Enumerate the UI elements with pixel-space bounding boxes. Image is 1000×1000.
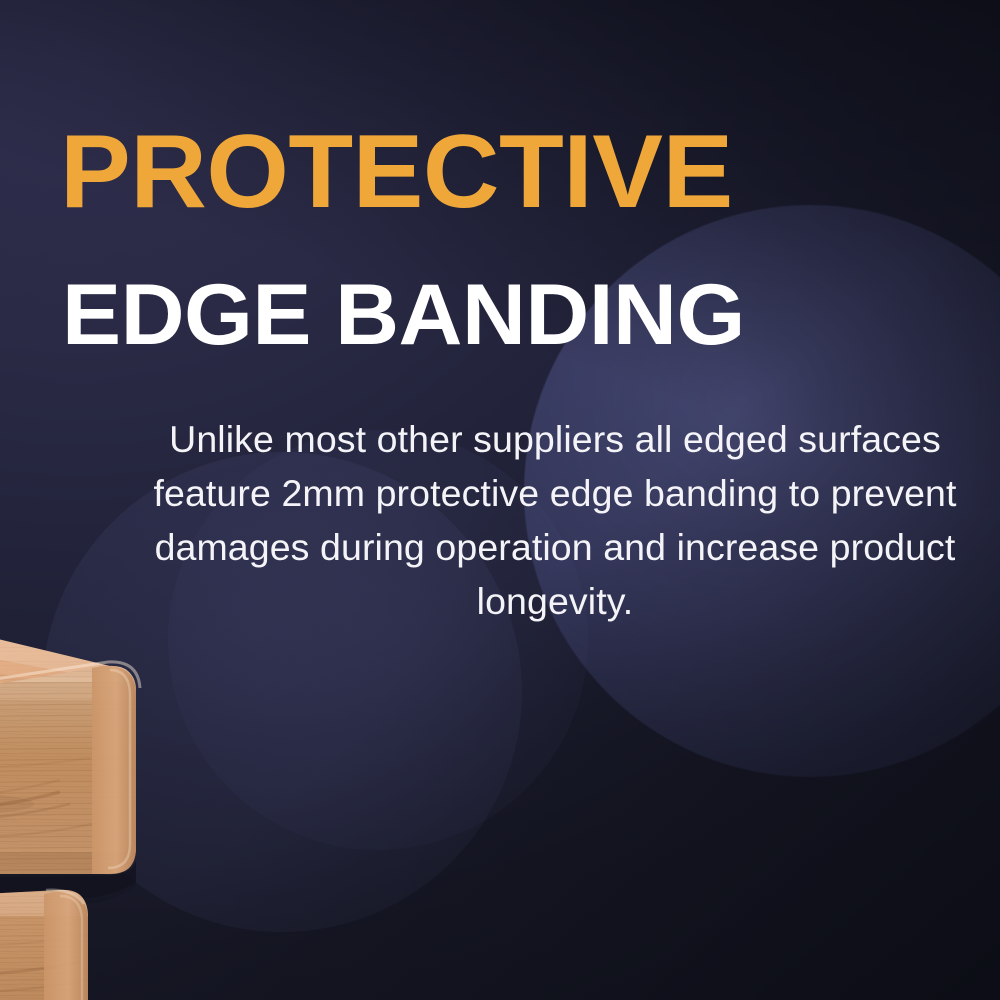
headline-secondary: EDGE BANDING	[62, 272, 989, 358]
poster-canvas: PROTECTIVE EDGE BANDING Unlike most othe…	[0, 0, 1000, 1000]
body-paragraph: Unlike most other suppliers all edged su…	[132, 412, 978, 628]
headline-primary: PROTECTIVE	[60, 120, 978, 224]
